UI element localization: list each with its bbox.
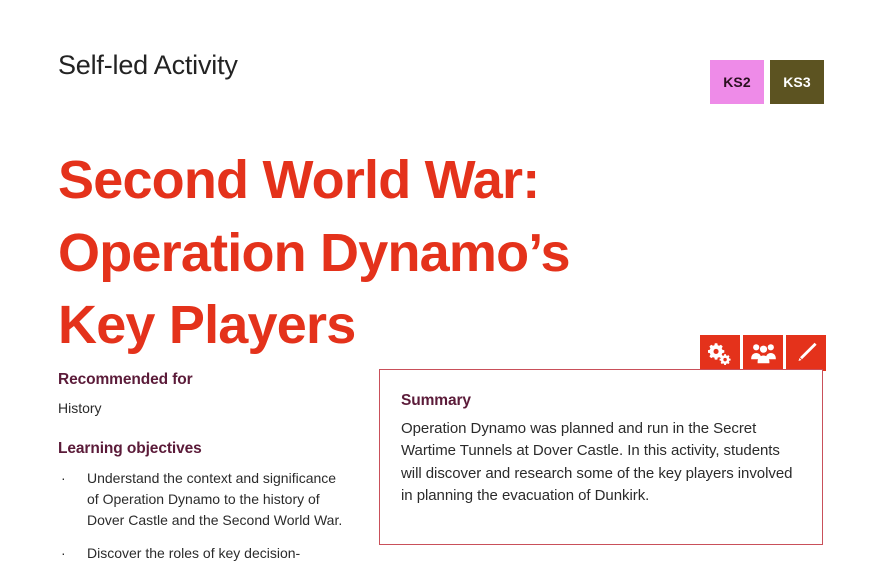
list-item: · Discover the roles of key decision- [58, 543, 348, 564]
people-group-icon-tile[interactable] [743, 335, 783, 371]
pencil-icon-tile[interactable] [786, 335, 826, 371]
page-title-line-2: Operation Dynamo’s [58, 223, 570, 283]
summary-panel: Summary Operation Dynamo was planned and… [379, 369, 823, 545]
bullet-glyph: · [61, 543, 66, 564]
gears-icon [708, 341, 732, 365]
info-column: Recommended for History Learning objecti… [58, 370, 348, 575]
gears-icon-tile[interactable] [700, 335, 740, 371]
list-item: · Understand the context and significanc… [58, 468, 348, 532]
page-title-line-3: Key Players [58, 295, 355, 355]
list-item-text: Discover the roles of key decision- [87, 545, 300, 561]
page-title: Second World War: Operation Dynamo’s Key… [58, 144, 698, 362]
summary-body-text: Operation Dynamo was planned and run in … [401, 418, 800, 507]
summary-heading: Summary [401, 391, 800, 411]
summary-panel-inner: Summary Operation Dynamo was planned and… [380, 370, 822, 508]
activity-page: Self-led Activity KS2 KS3 Second World W… [0, 0, 882, 571]
page-title-line-1: Second World War: [58, 150, 539, 210]
pencil-icon [794, 341, 818, 365]
list-item-text: Understand the context and significance … [87, 470, 342, 529]
badge-ks2: KS2 [710, 60, 764, 104]
badge-ks3: KS3 [770, 60, 824, 104]
learning-objectives-list: · Understand the context and significanc… [58, 468, 348, 565]
recommended-for-heading: Recommended for [58, 370, 348, 390]
people-group-icon [751, 342, 776, 364]
learning-objectives-heading: Learning objectives [58, 439, 348, 459]
key-stage-badges: KS2 KS3 [710, 60, 824, 104]
recommended-for-value: History [58, 398, 348, 418]
column-spacer [58, 418, 348, 439]
activity-icon-tiles [700, 335, 826, 371]
bullet-glyph: · [61, 468, 66, 489]
activity-type-label: Self-led Activity [58, 51, 238, 81]
